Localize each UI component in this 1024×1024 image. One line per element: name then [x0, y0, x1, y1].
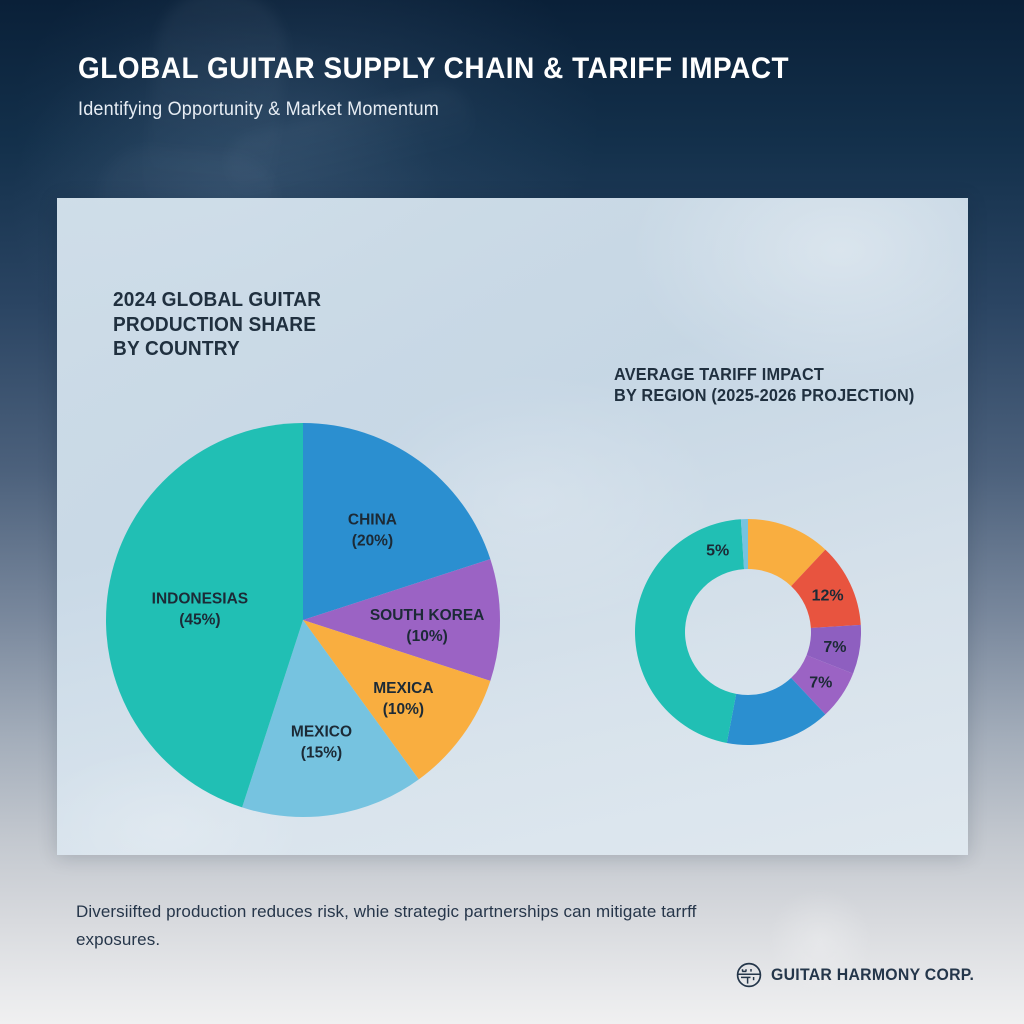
- pie-slice-label-name: MEXICO: [291, 724, 352, 741]
- footnote-text: Diversiifted production reduces risk, wh…: [76, 898, 776, 953]
- donut-segment-label: 12%: [812, 588, 844, 605]
- heading-line: BY COUNTRY: [113, 337, 420, 362]
- pie-slice-label-name: MEXICA: [373, 680, 433, 697]
- pie-slice-label-value: (10%): [383, 701, 424, 718]
- pie-chart-heading: 2024 GLOBAL GUITARPRODUCTION SHAREBY COU…: [113, 288, 420, 362]
- donut-segment-label: 5%: [706, 542, 729, 559]
- pie-slice-label-value: (45%): [179, 612, 220, 629]
- pie-slice-label-name: CHINA: [348, 511, 397, 528]
- header: GLOBAL GUITAR SUPPLY CHAIN & TARIFF IMPA…: [78, 52, 898, 121]
- donut-chart-heading: AVERAGE TARIFF IMPACTBY REGION (2025-202…: [614, 364, 930, 406]
- heading-line: BY REGION (2025-2026 PROJECTION): [614, 385, 930, 406]
- guitar-harmony-emblem-icon: [736, 962, 762, 988]
- donut-svg: 12%7%7%5%: [570, 448, 926, 804]
- pie-slice-label-value: (15%): [301, 745, 342, 762]
- pie-slice-label-name: INDONESIAS: [152, 591, 248, 608]
- production-share-pie-chart: CHINA(20%)SOUTH KOREA(10%)MEXICA(10%)MEX…: [100, 417, 506, 823]
- infographic-canvas: GLOBAL GUITAR SUPPLY CHAIN & TARIFF IMPA…: [0, 0, 1024, 1024]
- donut-segment-label: 7%: [809, 674, 832, 691]
- brand-lockup: GUITAR HARMONY CORP.: [736, 962, 990, 988]
- heading-line: 2024 GLOBAL GUITAR: [113, 288, 420, 313]
- page-title: GLOBAL GUITAR SUPPLY CHAIN & TARIFF IMPA…: [78, 52, 841, 86]
- tariff-impact-donut-chart: 12%7%7%5%: [570, 448, 926, 804]
- page-subtitle: Identifying Opportunity & Market Momentu…: [78, 99, 857, 121]
- pie-slice-label-value: (10%): [406, 628, 447, 645]
- heading-line: AVERAGE TARIFF IMPACT: [614, 364, 930, 385]
- brand-name: GUITAR HARMONY CORP.: [771, 965, 974, 985]
- pie-slice-label-name: SOUTH KOREA: [370, 607, 485, 624]
- donut-segment-label: 7%: [823, 639, 846, 656]
- pie-svg: CHINA(20%)SOUTH KOREA(10%)MEXICA(10%)MEX…: [100, 417, 506, 823]
- heading-line: PRODUCTION SHARE: [113, 313, 420, 338]
- pie-slice-label-value: (20%): [352, 532, 393, 549]
